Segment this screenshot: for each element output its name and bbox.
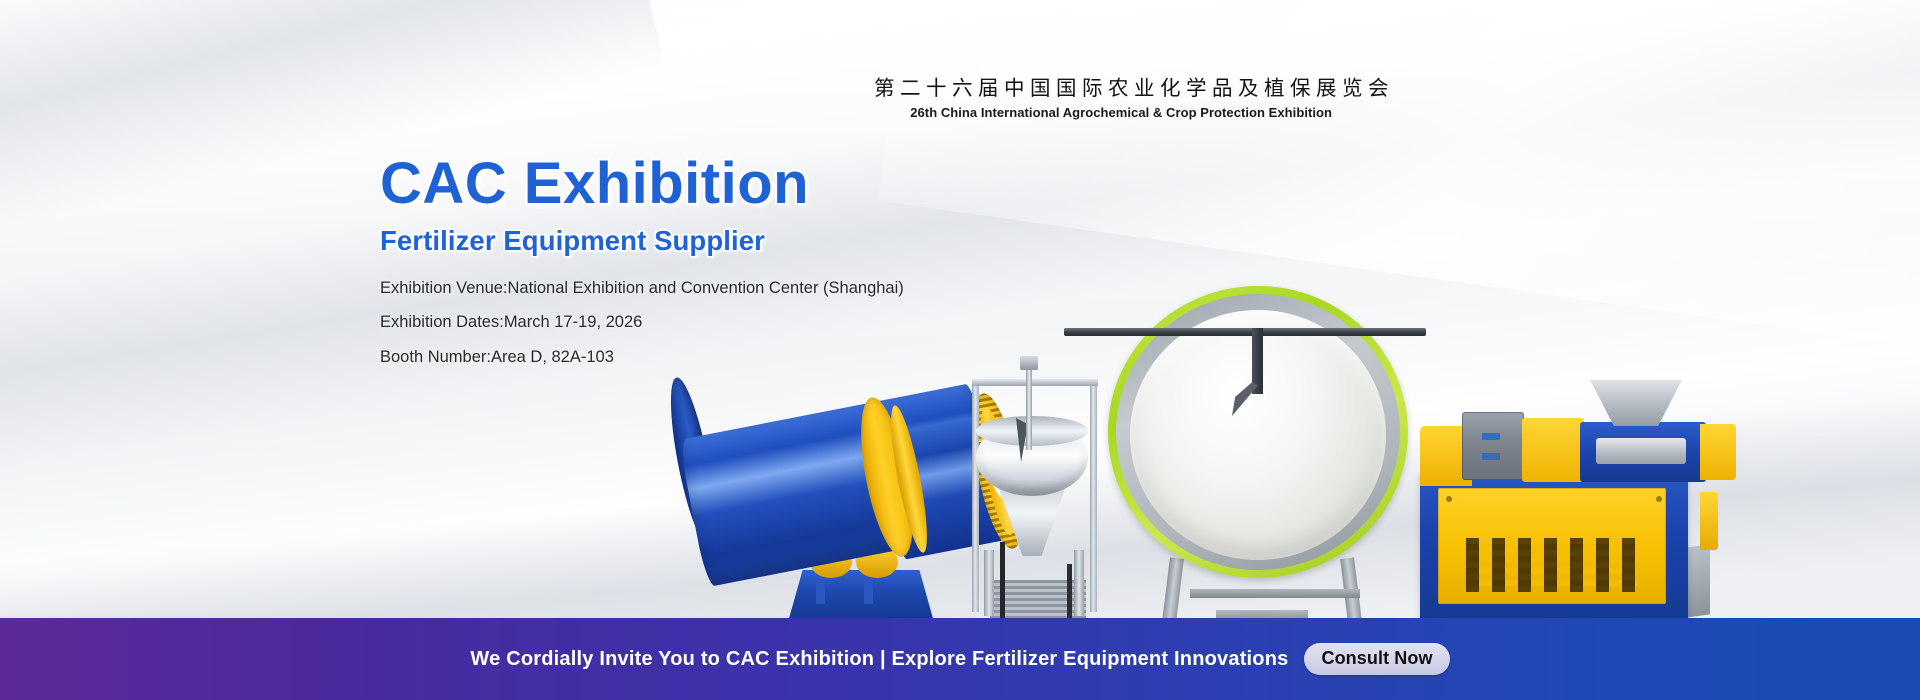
roller-granulator-gearbox-label	[1482, 433, 1500, 440]
roller-granulator-end-housing	[1700, 424, 1736, 480]
pan-mixer-frame-post	[972, 380, 979, 612]
pan-mixer-shaft-cap	[1020, 356, 1038, 370]
cta-strip: We Cordially Invite You to CAC Exhibitio…	[0, 618, 1920, 700]
roller-granulator-panel-screw	[1656, 496, 1662, 502]
pan-mixer-frame-crossbar	[972, 379, 1098, 386]
event-logo-english-title: 26th China International Agrochemical & …	[874, 105, 1334, 120]
roller-granulator-gearbox-label	[1482, 453, 1500, 460]
roller-granulator-roller	[1596, 438, 1686, 464]
consult-now-button[interactable]: Consult Now	[1304, 643, 1449, 675]
pan-mixer-cable	[1052, 564, 1072, 622]
pan-mixer-bowl-rim	[976, 416, 1088, 446]
pan-mixer-leg	[1074, 550, 1084, 616]
pan-mixer-frame-post	[1090, 380, 1097, 612]
roller-granulator-feed-hopper	[1590, 380, 1682, 426]
pan-mixer-shaft	[1026, 362, 1032, 450]
disc-granulator-crossbar	[1064, 328, 1426, 336]
roller-granulator-panel-screw	[1446, 496, 1452, 502]
disc-granulator-leg	[1162, 557, 1184, 622]
event-logo: 第二十六届中国国际农业化学品及植保展览会 26th China Internat…	[874, 76, 1334, 120]
machinery-image-group	[660, 202, 1780, 622]
cta-message: We Cordially Invite You to CAC Exhibitio…	[470, 648, 1288, 671]
disc-granulator-brace	[1190, 589, 1360, 598]
drum-dryer-base	[788, 570, 934, 622]
exhibition-banner: 第二十六届中国国际农业化学品及植保展览会 26th China Internat…	[0, 0, 1920, 700]
pan-mixer-leg	[984, 550, 994, 616]
roller-granulator-gearbox	[1462, 412, 1524, 480]
event-logo-chinese-title: 第二十六届中国国际农业化学品及植保展览会	[874, 76, 1334, 102]
roller-granulator-vent-slots	[1466, 538, 1638, 592]
roller-granulator-side-cover	[1700, 492, 1718, 550]
roller-granulator-mid-housing	[1522, 418, 1584, 482]
roller-granulator-discharge-chute	[1686, 544, 1710, 617]
